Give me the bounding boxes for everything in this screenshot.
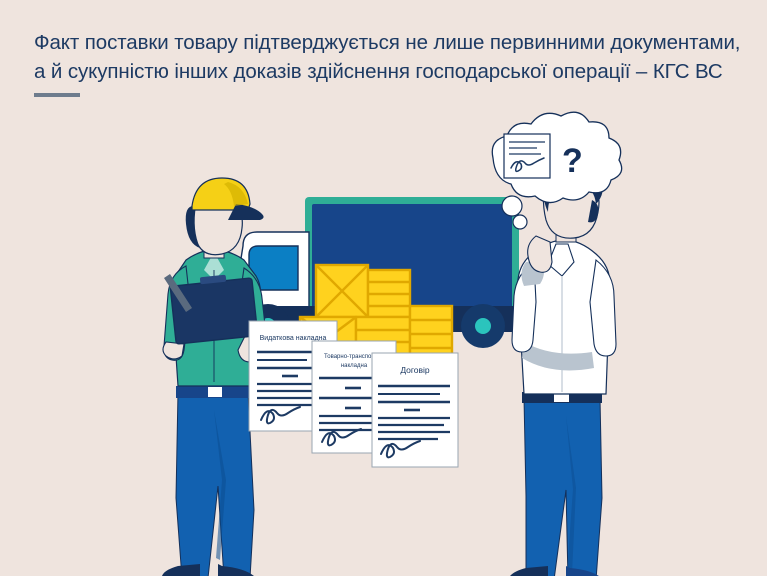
doc2-title-line-2: накладна — [341, 363, 368, 369]
title-underline-rule — [34, 93, 80, 97]
businessman-hand-on-chin — [528, 236, 552, 272]
courier-pants — [176, 392, 254, 576]
thought-bubble-dot-medium — [502, 196, 522, 216]
thought-bubble-question-mark: ? — [562, 142, 583, 180]
title-line-2: а й сукупністю інших доказів здійснення … — [34, 57, 744, 86]
courier-clipboard — [170, 275, 258, 344]
doc3-title: Договір — [400, 365, 430, 375]
courier-belt-buckle — [208, 387, 222, 397]
courier-left-shoe — [162, 564, 200, 576]
document-dogovir[interactable]: Договір — [372, 353, 458, 467]
businessman-right-arm — [590, 260, 616, 356]
truck-rear-hub — [475, 318, 491, 334]
title-line-1: Факт поставки товару підтверджується не … — [34, 28, 744, 57]
courier-left-hand — [163, 342, 184, 359]
thought-bubble-dot-small — [513, 215, 527, 229]
delivery-confirmation-illustration: ? Видаткова накладна — [0, 110, 767, 576]
illustration-stage: ? Видаткова накладна — [0, 110, 767, 576]
businessman-pants — [524, 398, 602, 576]
page-title: Факт поставки товару підтверджується не … — [34, 28, 744, 86]
thought-bubble-document — [504, 134, 550, 178]
poster-canvas: Факт поставки товару підтверджується не … — [0, 0, 767, 576]
